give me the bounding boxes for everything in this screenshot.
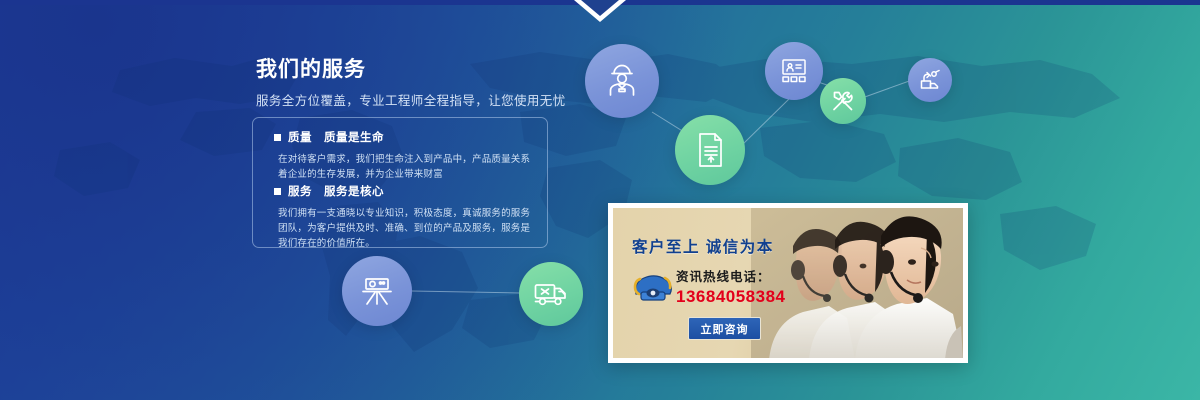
node-tools	[820, 78, 866, 124]
feature-heading: 质量 质量是生命	[274, 129, 536, 145]
feature-body: 在对待客户需求，我们把生命注入到产品中，产品质量关系着企业的生存发展，并为企业带…	[278, 152, 536, 182]
feature-headline: 质量是生命	[324, 129, 384, 145]
promo-banner: 客户至上 诚信为本 资讯热线电话： 13684058384	[608, 203, 968, 363]
tools-icon	[830, 88, 856, 114]
node-survey	[342, 256, 412, 326]
promo-hotline-row: 资讯热线电话： 13684058384	[632, 266, 786, 307]
node-engineer	[585, 44, 659, 118]
telephone-icon	[632, 270, 672, 304]
survey-tripod-icon	[358, 272, 396, 310]
service-hero-section: 我们的服务 服务全方位覆盖，专业工程师全程指导，让您使用无忧 质量 质量是生命 …	[0, 0, 1200, 400]
delivery-truck-icon	[533, 279, 569, 309]
promo-inner-frame: 客户至上 诚信为本 资讯热线电话： 13684058384	[611, 206, 965, 360]
feature-tag: 服务	[288, 183, 312, 199]
consult-now-button[interactable]: 立即咨询	[688, 317, 761, 340]
feature-item-quality: 质量 质量是生命 在对待客户需求，我们把生命注入到产品中，产品质量关系着企业的生…	[274, 129, 536, 182]
hotline-label: 资讯热线电话：	[676, 266, 786, 285]
node-delivery	[519, 262, 583, 326]
training-board-icon	[779, 56, 809, 86]
feature-headline: 服务是核心	[324, 183, 384, 199]
bullet-square-icon	[274, 188, 281, 195]
promo-text-block: 客户至上 诚信为本 资讯热线电话： 13684058384	[632, 235, 786, 340]
page-title: 我们的服务	[256, 57, 556, 83]
feature-item-service: 服务 服务是核心 我们拥有一支通晓以专业知识，积极态度，真诚服务的服务团队，为客…	[274, 183, 536, 251]
page-subtitle: 服务全方位覆盖，专业工程师全程指导，让您使用无忧	[256, 92, 556, 110]
document-upload-icon	[692, 131, 728, 169]
node-installation	[908, 58, 952, 102]
feature-heading: 服务 服务是核心	[274, 183, 536, 199]
engineer-icon	[602, 61, 642, 101]
installation-icon	[918, 68, 942, 92]
node-document	[675, 115, 745, 185]
service-heading-block: 我们的服务 服务全方位覆盖，专业工程师全程指导，让您使用无忧	[256, 57, 556, 110]
bullet-square-icon	[274, 134, 281, 141]
hotline-number: 13684058384	[676, 287, 786, 307]
top-chevron-inner	[581, 0, 619, 16]
feature-tag: 质量	[288, 129, 312, 145]
node-training	[765, 42, 823, 100]
feature-body: 我们拥有一支通晓以专业知识，积极态度，真诚服务的服务团队，为客户提供及时、准确、…	[278, 206, 536, 251]
promo-slogan: 客户至上 诚信为本	[632, 235, 786, 257]
